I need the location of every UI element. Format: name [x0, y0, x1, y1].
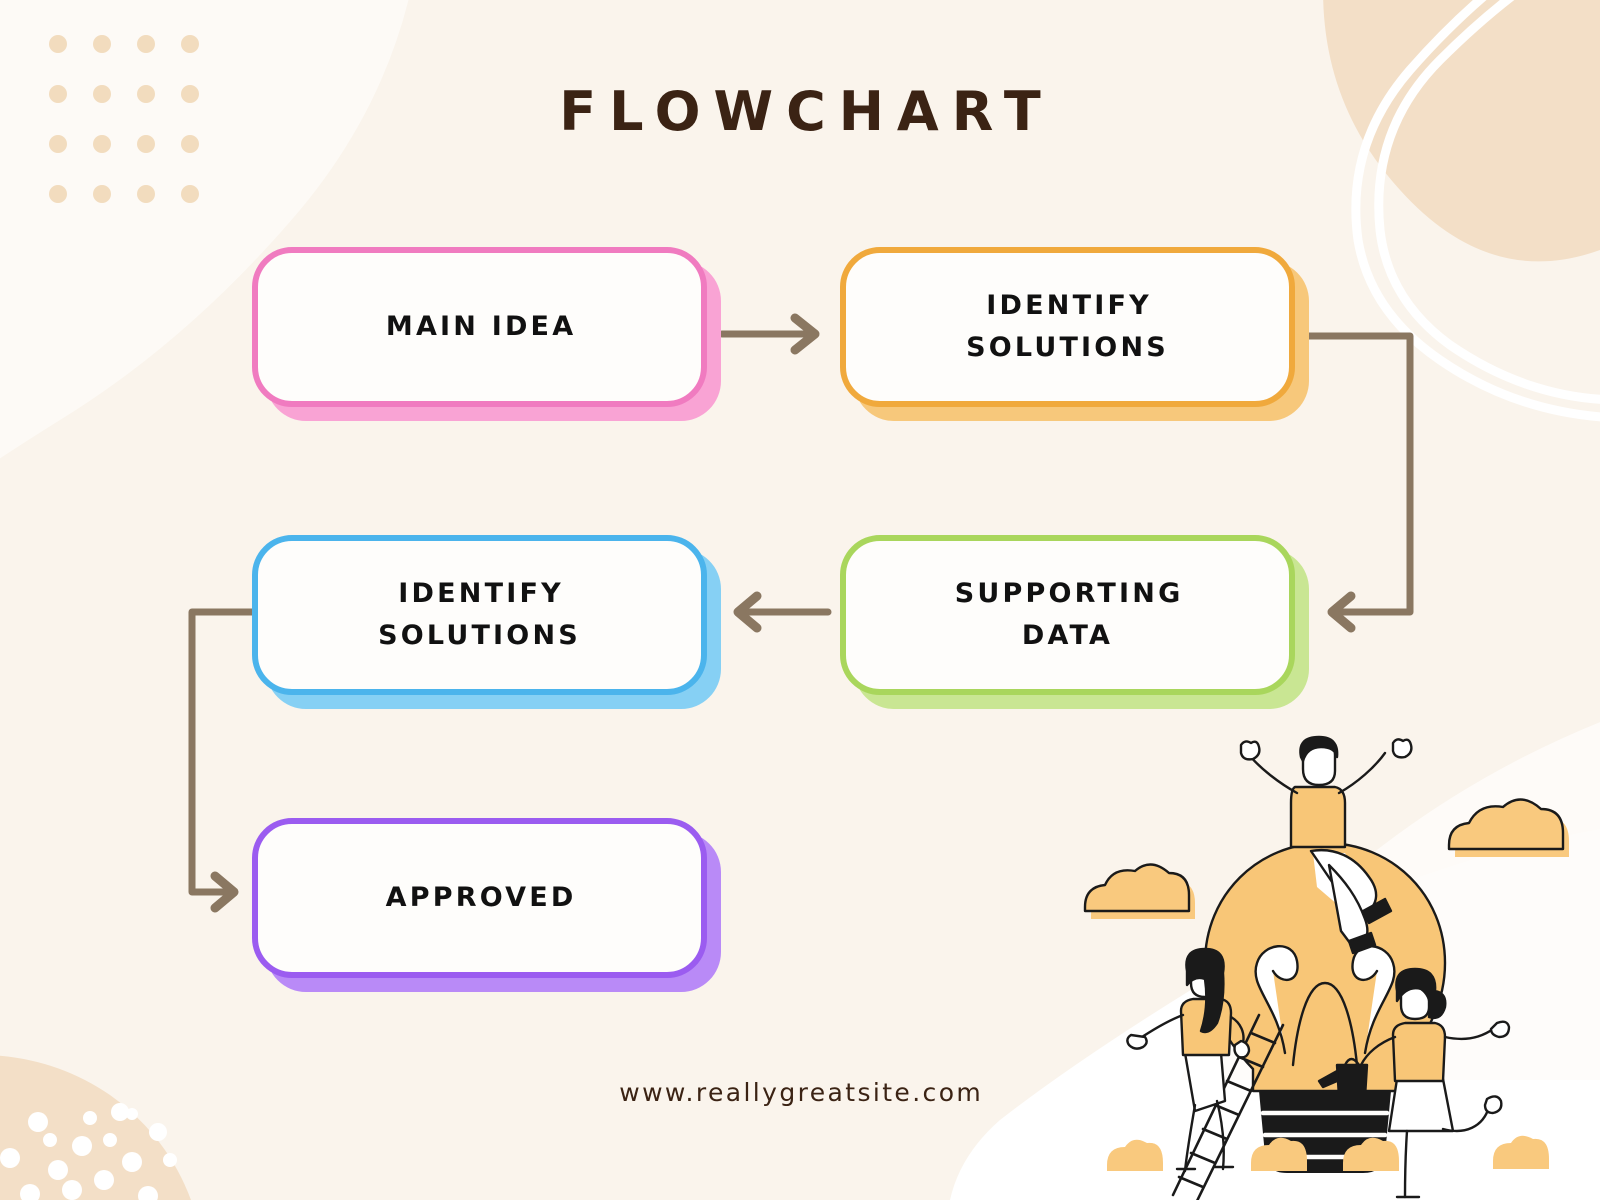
cloud-icon-left [1085, 864, 1195, 919]
page-title: FLOWCHART [0, 80, 1600, 143]
node-identify-solutions-mid[interactable]: IDENTIFY SOLUTIONS [252, 535, 707, 695]
node-supporting-data[interactable]: SUPPORTING DATA [840, 535, 1295, 695]
flowchart-canvas: FLOWCHART MAIN IDEA [0, 0, 1600, 1200]
node-label: MAIN IDEA [383, 306, 577, 348]
man-on-lightbulb [1241, 737, 1411, 953]
edge-main-to-identify [722, 318, 815, 350]
node-face: APPROVED [252, 818, 707, 978]
lightbulb-illustration [1045, 735, 1600, 1200]
lightbulb-filament [1256, 946, 1395, 1065]
node-face: IDENTIFY SOLUTIONS [252, 535, 707, 695]
bottom-right-soft-blob [1180, 700, 1600, 1080]
node-identify-solutions-top[interactable]: IDENTIFY SOLUTIONS [840, 247, 1295, 407]
connector-layer [0, 0, 1600, 1200]
node-main-idea[interactable]: MAIN IDEA [252, 247, 707, 407]
lightbulb-glass [1205, 843, 1445, 1091]
woman-left [1127, 949, 1249, 1171]
edge-supporting-to-identify [738, 596, 828, 628]
top-right-arc-outer [1379, 0, 1600, 400]
bush-decorations [1107, 1136, 1549, 1171]
top-right-arc-inner [1356, 0, 1600, 418]
node-label: IDENTIFY SOLUTIONS [378, 573, 581, 657]
canvas-background [0, 0, 1600, 1200]
ladder [1173, 1015, 1283, 1200]
node-label: SUPPORTING DATA [952, 573, 1184, 657]
edge-identify-to-supporting [1308, 336, 1410, 628]
node-label: IDENTIFY SOLUTIONS [966, 285, 1169, 369]
bottom-left-tan-blob [0, 1055, 200, 1200]
bottom-left-dot-scatter [0, 1103, 177, 1200]
edge-identify-to-approved [192, 612, 252, 908]
node-face: SUPPORTING DATA [840, 535, 1295, 695]
cloud-icon-right [1449, 799, 1569, 857]
node-face: MAIN IDEA [252, 247, 707, 407]
bottom-right-ground-blob [950, 820, 1600, 1200]
background-decorations [0, 0, 1600, 1200]
node-label: APPROVED [382, 877, 576, 919]
node-face: IDENTIFY SOLUTIONS [840, 247, 1295, 407]
footer-website-url: www.reallygreatsite.com [0, 1078, 1600, 1107]
node-approved[interactable]: APPROVED [252, 818, 707, 978]
